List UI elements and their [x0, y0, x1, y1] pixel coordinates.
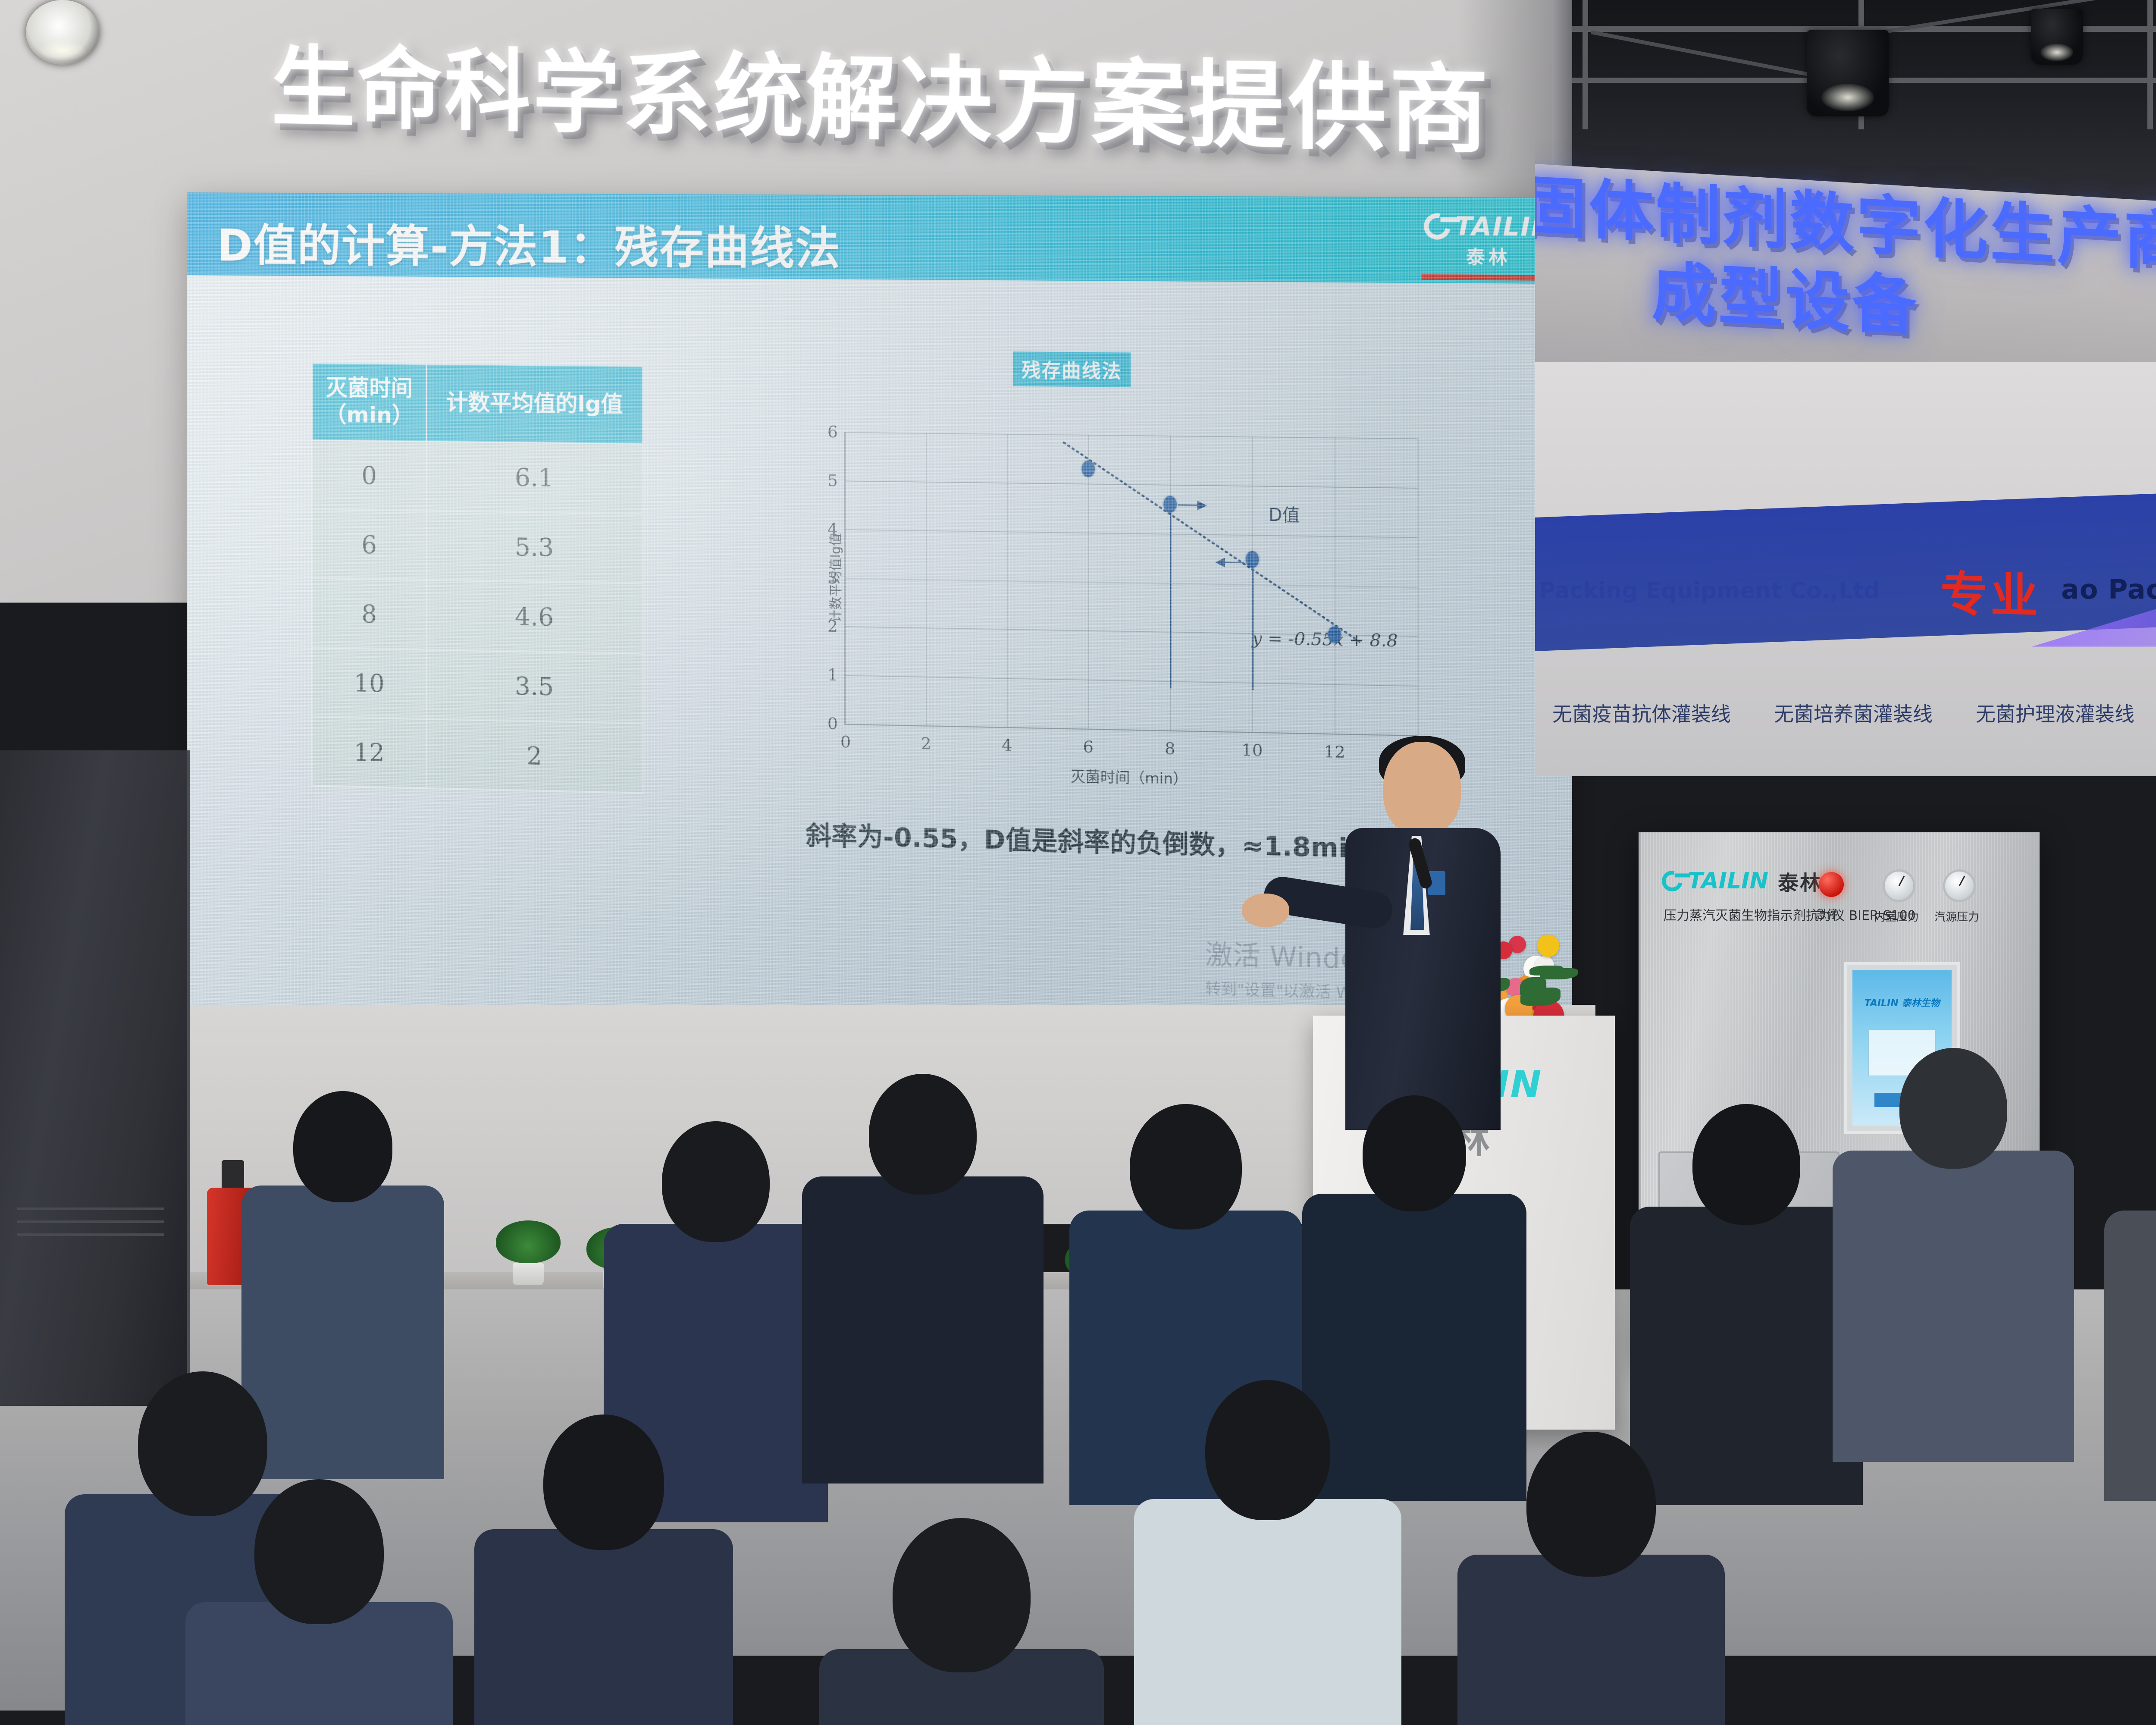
chart-xtick: 2: [921, 734, 931, 753]
chart-title: 残存曲线法: [1013, 351, 1131, 387]
cell-lg: 6.1: [426, 442, 643, 514]
audience-head: [869, 1074, 977, 1195]
emergency-stop-label: 急停: [1815, 906, 1838, 922]
audience-member: [819, 1518, 1104, 1725]
chart-ytick: 0: [827, 714, 838, 733]
dvalue-arrow-right: [1178, 504, 1205, 506]
hmi-logo-text: TAILIN 泰林生物: [1865, 995, 1940, 1009]
cell-lg: 3.5: [426, 649, 643, 723]
audience-head: [1899, 1048, 2007, 1169]
cell-lg: 4.6: [426, 580, 643, 653]
audience-head: [893, 1518, 1031, 1672]
table-row: 10 3.5: [312, 647, 643, 723]
table-row: 6 5.3: [312, 509, 643, 583]
presenter-hand: [1242, 894, 1289, 927]
potted-plant: [496, 1220, 561, 1285]
machine-brand-cn: 泰林: [1778, 866, 1822, 896]
chart-plot-area: 计数平均值lg值 灭菌时间（min） 012345602468101214D值y…: [844, 432, 1417, 736]
chart-trendline: [846, 432, 1417, 735]
audience-head: [1692, 1104, 1800, 1225]
audience-head: [1526, 1432, 1656, 1577]
chart-ytick: 1: [827, 665, 838, 684]
chart-ytick: 6: [827, 422, 838, 441]
chart-gridline-v: [926, 433, 927, 725]
booth-sign: 无菌疫苗抗体灌装线: [1552, 699, 1731, 727]
audience-head: [1205, 1380, 1330, 1520]
chart-ytick: 4: [827, 519, 838, 538]
audience-member: [185, 1479, 453, 1725]
table-row: 0 6.1: [312, 440, 643, 514]
table-header-lg: 计数平均值的lg值: [426, 364, 643, 444]
booth-coltd-text: ao Packing Equipment Co.,Ltd: [2061, 574, 2156, 605]
chart-gridline-v: [1418, 438, 1419, 735]
presenter-person: [1328, 742, 1509, 1130]
spotlight: [26, 0, 99, 65]
chart-gridline-h: [846, 432, 1417, 439]
cell-time: 8: [312, 578, 426, 649]
chart-data-point: [1245, 551, 1259, 568]
audience-head: [1363, 1095, 1466, 1211]
booth-sign: 无菌护理液灌装线: [1976, 699, 2134, 727]
booth-blue-band: [1535, 492, 2156, 651]
cell-time: 0: [312, 440, 426, 511]
booth-company-line: ao Packing Equipment Co.,Ltd: [1535, 578, 1880, 604]
chart-xtick: 10: [1241, 740, 1263, 760]
chart-data-point: [1163, 496, 1177, 513]
cell-time: 10: [312, 647, 426, 719]
foliage: [1520, 977, 1546, 997]
tailin-mark-icon: [1658, 867, 1686, 895]
cell-time: 6: [312, 509, 426, 580]
presenter-head: [1383, 742, 1461, 834]
chamber-pressure-gauge: [1883, 869, 1915, 902]
chart-gridline-h: [846, 529, 1417, 538]
chart-gridline-h: [846, 724, 1417, 736]
slide-logo-cn: 泰林: [1466, 242, 1511, 270]
audience-member: [1457, 1432, 1725, 1725]
audience-head: [543, 1414, 664, 1550]
audience-member: [474, 1414, 733, 1725]
chart-xlabel: 灭菌时间（min）: [1071, 765, 1188, 788]
chamber-pressure-label: 内室压力: [1874, 908, 1919, 924]
booth-sign: 无菌培养菌灌装线: [1774, 699, 1933, 727]
audience-head: [254, 1479, 384, 1624]
booth-sign-row: 无菌疫苗抗体灌装线 无菌培养菌灌装线 无菌护理液灌装线: [1552, 699, 2156, 727]
cell-time: 12: [312, 717, 426, 788]
chart-equation-label: y = -0.55x + 8.8: [1252, 628, 1398, 651]
table-row: 12 2: [312, 717, 643, 793]
table-header-row: 灭菌时间 （min） 计数平均值的lg值: [312, 363, 643, 444]
steam-pressure-label: 汽源压力: [1934, 908, 1979, 924]
audience-head: [293, 1091, 392, 1202]
slide-title: D值的计算-方法1：残存曲线法: [217, 210, 841, 277]
chart-ytick: 2: [827, 617, 838, 636]
exhibition-hall-scene: 生命科学系统解决方案提供商 D值的计算-方法1：残存曲线法 TAILIN 泰林 …: [0, 0, 2156, 1725]
table-header-time: 灭菌时间 （min）: [312, 363, 426, 442]
table-row: 8 4.6: [312, 578, 643, 653]
chart-xtick: 4: [1002, 735, 1012, 755]
machine-brand-word: TAILIN: [1688, 868, 1768, 894]
dvalue-arrow-left: [1217, 561, 1244, 563]
red-sign-text: 专业: [1940, 555, 2040, 627]
chart-gridline-v: [1088, 435, 1089, 729]
data-table: 灭菌时间 （min） 计数平均值的lg值 0 6.1 6 5.3 8 4.6: [311, 362, 643, 793]
audience-body: [1833, 1151, 2074, 1462]
tailin-mark-icon: [1419, 208, 1455, 245]
emergency-stop-button[interactable]: [1819, 872, 1844, 897]
chart-drop-line: [1252, 559, 1253, 690]
audience-head: [1130, 1104, 1242, 1229]
steam-pressure-gauge: [1943, 869, 1976, 902]
header-time-line2: （min）: [325, 402, 414, 429]
flower: [1537, 935, 1560, 957]
electrical-cabinet: [0, 750, 190, 1406]
chart-xtick: 6: [1083, 737, 1094, 756]
audience-body: [1457, 1555, 1725, 1725]
chart-gridline-h: [846, 675, 1417, 687]
chart-dvalue-label: D值: [1269, 501, 1300, 527]
chart-gridline-v: [1335, 437, 1335, 734]
audience-body: [474, 1529, 733, 1725]
audience-member: [1134, 1380, 1401, 1725]
audience-body: [2104, 1211, 2156, 1501]
audience-member: [1833, 1048, 2074, 1462]
audience-member: [2104, 1104, 2156, 1501]
chart-data-point: [1082, 461, 1095, 477]
audience-body: [1134, 1499, 1401, 1725]
chart-xtick: 8: [1165, 739, 1175, 758]
audience-member: [802, 1074, 1044, 1483]
chart-ytick: 3: [827, 568, 838, 587]
chart-xtick: 0: [840, 732, 851, 751]
chart-gridline-h: [846, 480, 1417, 489]
header-time-line1: 灭菌时间: [326, 375, 413, 401]
chart-ytick: 5: [827, 471, 838, 490]
chart-data-point: [1328, 626, 1341, 643]
audience-body: [802, 1176, 1044, 1484]
machine-brand-logo: TAILIN 泰林: [1662, 866, 1822, 896]
chart-drop-line: [1170, 504, 1171, 688]
cell-lg: 5.3: [426, 511, 643, 584]
audience-head: [662, 1121, 770, 1242]
chart-gridline-v: [1007, 434, 1008, 727]
chart-gridline-h: [846, 578, 1417, 588]
cell-lg: 2: [426, 719, 643, 793]
